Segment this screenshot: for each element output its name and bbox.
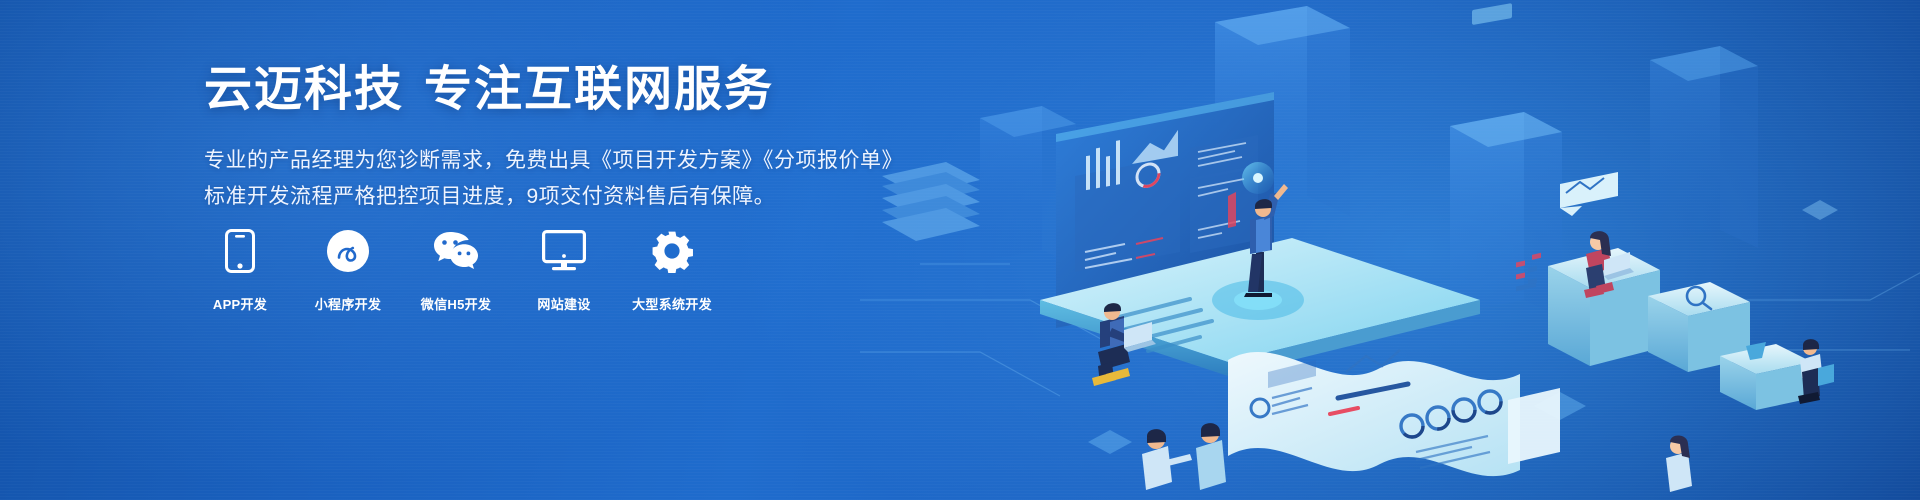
floating-mini-card: [1560, 172, 1618, 216]
wechat-icon: [433, 228, 479, 274]
service-label: 大型系统开发: [632, 294, 712, 313]
headline-tagline: 专注互联网服务: [424, 63, 774, 116]
mobile-phone-icon: [217, 228, 263, 274]
hero-copy: 云迈科技专注互联网服务 专业的产品经理为您诊断需求，免费出具《项目开发方案》《分…: [204, 62, 904, 215]
service-item-large-system[interactable]: 大型系统开发: [636, 228, 708, 313]
service-item-wechat-h5[interactable]: 微信H5开发: [420, 228, 492, 313]
service-label: 微信H5开发: [421, 294, 491, 313]
illustration-container: [860, 0, 1920, 500]
subcopy-line-2: 标准开发流程严格把控项目进度，9项交付资料售后有保障。: [204, 179, 904, 215]
hero-subcopy: 专业的产品经理为您诊断需求，免费出具《项目开发方案》《分项报价单》 标准开发流程…: [204, 143, 904, 215]
headline-brand: 云迈科技: [204, 63, 404, 116]
service-icon-row: APP开发 小程序开发 微信: [204, 228, 708, 313]
page-title: 云迈科技专注互联网服务: [204, 62, 904, 119]
service-item-app[interactable]: APP开发: [204, 228, 276, 313]
subcopy-line-1: 专业的产品经理为您诊断需求，免费出具《项目开发方案》《分项报价单》: [204, 143, 904, 179]
monitor-icon: [541, 228, 587, 274]
isometric-tech-city-dashboard-illustration: [860, 0, 1920, 500]
service-item-mini-program[interactable]: 小程序开发: [312, 228, 384, 313]
service-label: APP开发: [213, 294, 267, 313]
service-label: 网站建设: [537, 294, 590, 313]
service-item-website[interactable]: 网站建设: [528, 228, 600, 313]
service-label: 小程序开发: [315, 294, 382, 313]
mini-program-icon: [325, 228, 371, 274]
hero-banner: 云迈科技专注互联网服务 专业的产品经理为您诊断需求，免费出具《项目开发方案》《分…: [0, 0, 1920, 500]
gear-icon: [649, 228, 695, 274]
